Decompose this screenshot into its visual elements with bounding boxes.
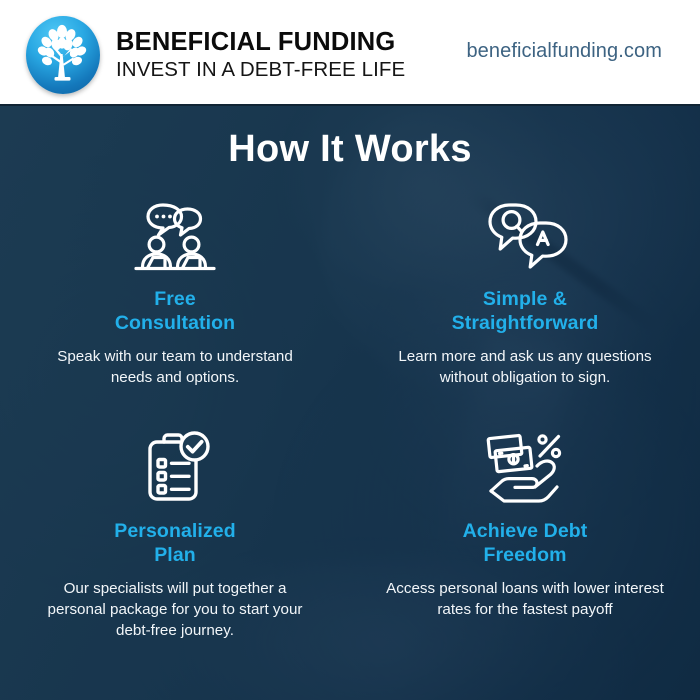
infographic-canvas: BENEFICIAL FUNDING INVEST IN A DEBT-FREE… — [0, 0, 700, 700]
clipboard-checklist-icon — [38, 425, 312, 507]
features-row-1: Free Consultation Speak with our team to… — [0, 193, 700, 389]
header-divider — [0, 104, 700, 106]
tree-in-circle-logo-icon — [26, 16, 100, 94]
brand-wordmark: BENEFICIAL FUNDING INVEST IN A DEBT-FREE… — [116, 30, 405, 81]
brand-tagline: INVEST IN A DEBT-FREE LIFE — [116, 60, 405, 81]
feature-description: Our specialists will put together a pers… — [38, 579, 312, 642]
features-grid: Free Consultation Speak with our team to… — [0, 193, 700, 642]
feature-title: Simple & Straightforward — [378, 288, 672, 336]
feature-title-line-1: Achieve Debt — [463, 520, 588, 542]
features-row-2: Personalized Plan Our specialists will p… — [0, 425, 700, 642]
feature-card-free-consultation[interactable]: Free Consultation Speak with our team to… — [0, 193, 350, 389]
website-url[interactable]: beneficialfunding.com — [466, 40, 662, 63]
feature-description: Access personal loans with lower interes… — [378, 579, 672, 621]
q-and-a-speech-bubbles-icon — [378, 193, 672, 275]
feature-title-line-1: Free — [154, 288, 196, 310]
hand-holding-money-percent-icon — [378, 425, 672, 507]
feature-description: Learn more and ask us any questions with… — [378, 347, 672, 389]
feature-title-line-1: Simple & — [483, 288, 567, 310]
feature-title: Personalized Plan — [38, 520, 312, 568]
feature-title-line-2: Plan — [154, 544, 196, 566]
feature-title-line-2: Freedom — [483, 544, 566, 566]
feature-title-line-2: Straightforward — [452, 312, 599, 334]
brand-logo-group[interactable]: BENEFICIAL FUNDING INVEST IN A DEBT-FREE… — [26, 16, 405, 94]
page-title: How It Works — [0, 128, 700, 171]
feature-title: Free Consultation — [38, 288, 312, 336]
feature-card-achieve-debt-freedom[interactable]: Achieve Debt Freedom Access personal loa… — [350, 425, 700, 642]
feature-description: Speak with our team to understand needs … — [38, 347, 312, 389]
page-header: BENEFICIAL FUNDING INVEST IN A DEBT-FREE… — [0, 0, 700, 105]
feature-card-simple-straightforward[interactable]: Simple & Straightforward Learn more and … — [350, 193, 700, 389]
main-content: How It Works — [0, 105, 700, 700]
feature-title-line-2: Consultation — [115, 312, 235, 334]
feature-title-line-1: Personalized — [114, 520, 236, 542]
consultation-people-speech-bubbles-icon — [38, 193, 312, 275]
feature-title: Achieve Debt Freedom — [378, 520, 672, 568]
feature-card-personalized-plan[interactable]: Personalized Plan Our specialists will p… — [0, 425, 350, 642]
brand-name: BENEFICIAL FUNDING — [116, 30, 405, 56]
